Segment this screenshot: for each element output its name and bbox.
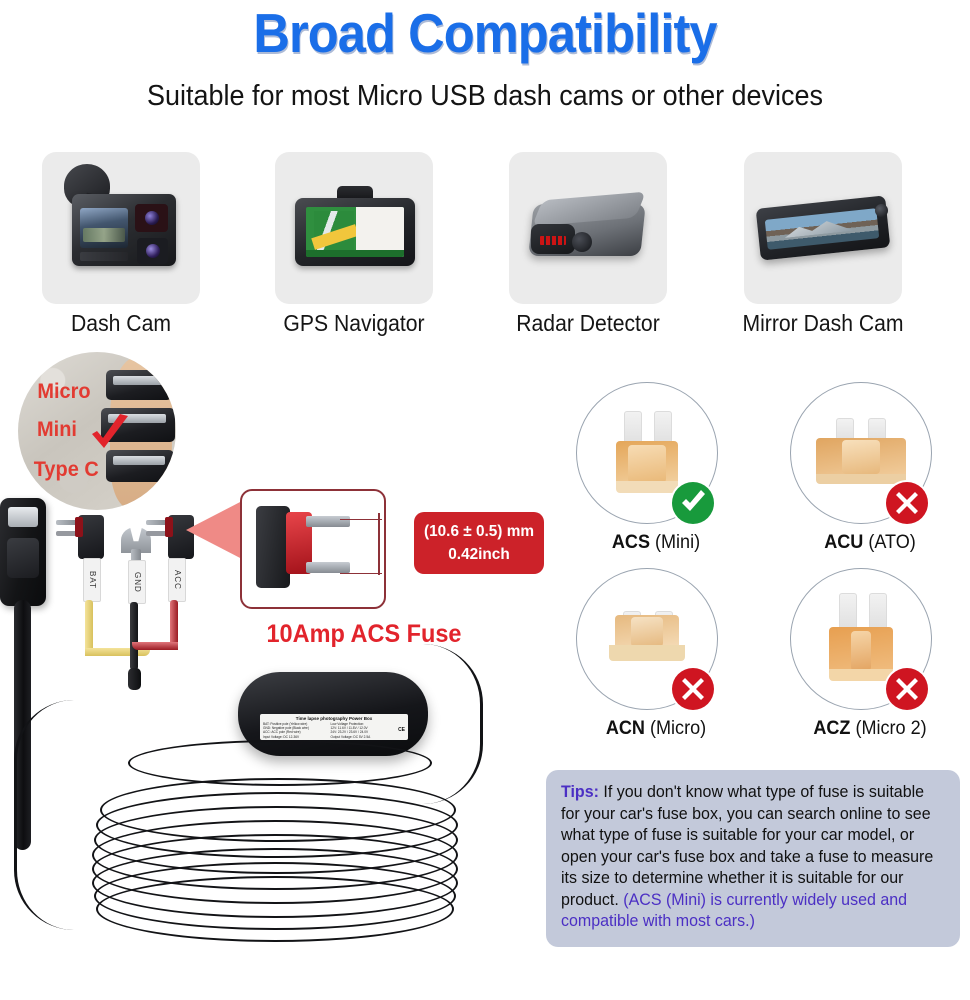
tips-text: Tips: If you don't know what type of fus… <box>561 782 933 933</box>
fuse-dimension-badge: (10.6 ± 0.5) mm 0.42inch <box>414 512 544 574</box>
connector-label-mini: Mini <box>37 418 77 442</box>
fuse-type-acz: ACZ (Micro 2) <box>770 568 970 754</box>
fuse-type-acu: ACU (ATO) <box>770 382 970 568</box>
acn-micro-fuse-icon <box>609 611 685 667</box>
power-box-label-line: Input Voltage: DC 12-36V <box>263 735 327 739</box>
check-icon <box>672 482 714 524</box>
acs-fuse-photo <box>256 500 330 594</box>
device-card-label: Radar Detector <box>495 310 681 337</box>
page-subtitle: Suitable for most Micro USB dash cams or… <box>34 78 936 114</box>
device-card-mirror-dash-cam: Mirror Dash Cam <box>744 152 902 304</box>
incompatible-badge <box>886 482 928 524</box>
fuse-code: ACU <box>824 532 863 553</box>
radar-detector-icon <box>509 152 667 304</box>
page-title: Broad Compatibility <box>39 2 931 64</box>
device-card-label: GPS Navigator <box>261 310 447 337</box>
device-card-gps-navigator: GPS Navigator <box>275 152 433 304</box>
tips-keyword: Tips: <box>561 783 599 801</box>
coiled-cable-photo <box>60 740 480 990</box>
incompatible-badge <box>886 668 928 710</box>
fuse-variant: (Mini) <box>655 532 700 553</box>
fuse-variant: (ATO) <box>868 532 915 553</box>
fuse-type-label: ACN (Micro) <box>552 718 761 740</box>
device-card-dash-cam: Dash Cam <box>42 152 200 304</box>
connector-label-micro: Micro <box>37 380 90 404</box>
connector-types-photo: Micro Mini Type C <box>18 352 176 510</box>
fuse-type-grid: ACS (Mini) ACU (ATO) <box>556 382 970 754</box>
wire-yellow <box>85 600 93 655</box>
dimension-tick-top <box>340 519 382 520</box>
device-card-radar-detector: Radar Detector <box>509 152 667 304</box>
connector-label-type-c: Type C <box>34 458 99 482</box>
fuse-code: ACZ <box>813 718 850 739</box>
fuse-code: ACN <box>606 718 645 739</box>
dimension-mm: (10.6 ± 0.5) mm <box>417 523 542 541</box>
red-check-icon <box>90 414 130 456</box>
fuse-variant: (Micro 2) <box>855 718 926 739</box>
fuse-callout-box <box>240 489 386 609</box>
device-card-row: Dash Cam GPS Navigator Radar Detector <box>0 152 970 342</box>
wire-red-bend <box>132 642 178 650</box>
wire-label-gnd: GND <box>128 560 146 604</box>
power-box-label: Time lapse photography Power Box BAT: Po… <box>260 714 408 740</box>
fuse-tap-bat <box>78 515 104 559</box>
fuse-type-acs: ACS (Mini) <box>556 382 756 568</box>
cross-icon <box>672 668 714 710</box>
dimension-line <box>378 513 380 575</box>
fuse-caption: 10Amp ACS Fuse <box>242 620 486 649</box>
micro-usb-plug-icon <box>106 370 172 400</box>
cross-icon <box>886 482 928 524</box>
device-card-label: Mirror Dash Cam <box>730 310 916 337</box>
device-card-label: Dash Cam <box>28 310 214 337</box>
fuse-variant: (Micro) <box>650 718 706 739</box>
wire-red <box>170 600 178 648</box>
infographic-page: Broad Compatibility Suitable for most Mi… <box>0 0 970 1000</box>
wire-black <box>130 602 138 670</box>
fuse-type-acn: ACN (Micro) <box>556 568 756 754</box>
gps-navigator-icon <box>275 152 433 304</box>
zoom-arrow-icon <box>186 500 244 560</box>
dash-cam-icon <box>42 152 200 304</box>
incompatible-badge <box>672 668 714 710</box>
wire-bundle <box>128 668 141 690</box>
wire-label-bat: BAT <box>83 558 101 602</box>
wire-label-acc: ACC <box>168 558 186 602</box>
dimension-inch: 0.42inch <box>417 546 542 564</box>
fuse-code: ACS <box>612 532 650 553</box>
fuse-type-label: ACZ (Micro 2) <box>766 718 970 740</box>
fuse-type-label: ACS (Mini) <box>552 532 761 554</box>
acu-ato-fuse-icon <box>816 418 906 488</box>
usb-connector-icon <box>0 498 46 606</box>
compatible-badge <box>672 482 714 524</box>
tips-box: Tips: If you don't know what type of fus… <box>546 770 960 947</box>
dimension-tick-bottom <box>340 573 382 574</box>
cross-icon <box>886 668 928 710</box>
fuse-type-label: ACU (ATO) <box>766 532 970 554</box>
power-box-label-line-right: Output Voltage: DC 5V 2.5A <box>331 735 395 739</box>
mirror-dash-cam-icon <box>744 152 902 304</box>
